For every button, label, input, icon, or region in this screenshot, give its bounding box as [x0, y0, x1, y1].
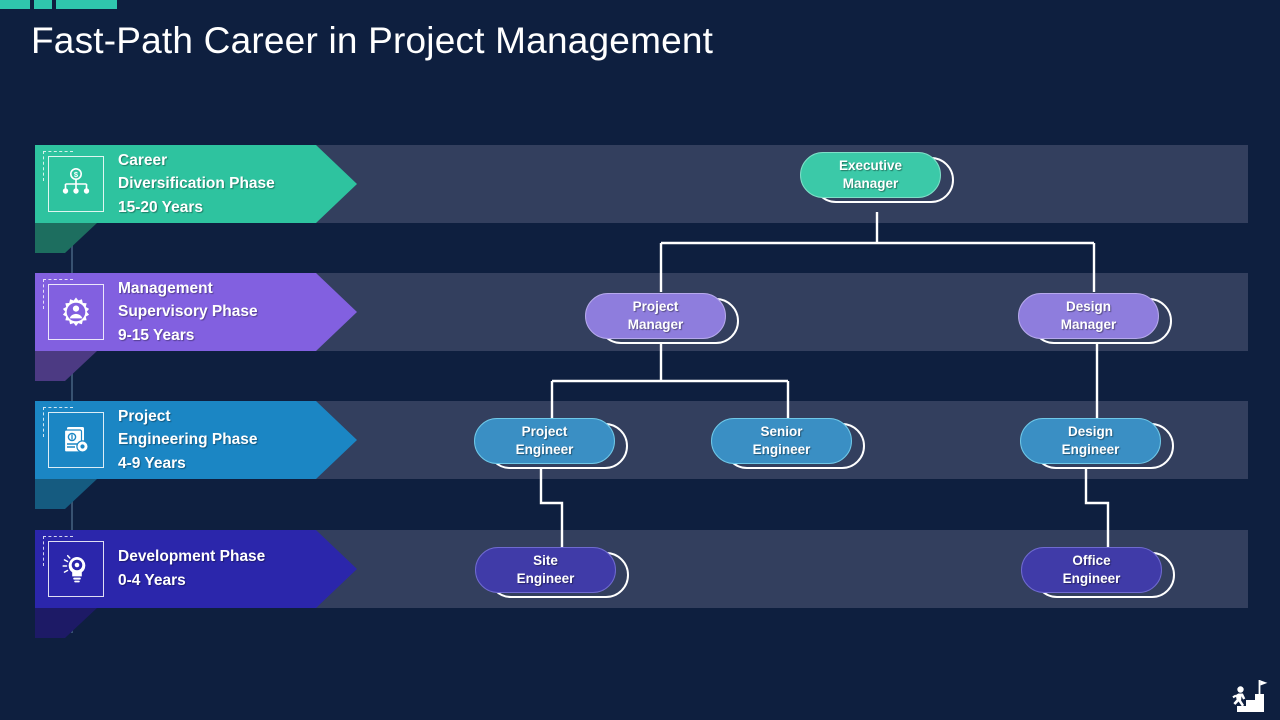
phase-card-management-supervisory[interactable]: Management Supervisory Phase 9-15 Years	[35, 273, 357, 351]
chevron-fold-shadow-2	[35, 351, 97, 381]
phase-label-line1: Career	[118, 149, 275, 173]
node-label: Project Engineer	[516, 423, 574, 459]
node-site-engineer[interactable]: Site Engineer	[475, 547, 630, 599]
node-design-manager[interactable]: Design Manager	[1018, 293, 1173, 345]
node-body: Site Engineer	[475, 547, 616, 593]
node-body: Senior Engineer	[711, 418, 852, 464]
phase-card-career-diversification[interactable]: $ Career Diversification Phase 15-20 Yea…	[35, 145, 357, 223]
node-body: Office Engineer	[1021, 547, 1162, 593]
node-body: Design Engineer	[1020, 418, 1161, 464]
phase-label-line1: Management	[118, 277, 258, 301]
head-lightbulb-gear-icon	[48, 541, 104, 597]
accent-bar-segment-1	[0, 0, 30, 9]
phase-label-line1: Project	[118, 405, 258, 429]
node-senior-engineer[interactable]: Senior Engineer	[711, 418, 866, 470]
phase-label-line3: 4-9 Years	[118, 452, 258, 476]
phase-label-group: Development Phase 0-4 Years	[118, 545, 265, 592]
phase-label-line2: Supervisory Phase	[118, 300, 258, 324]
slide-canvas: Fast-Path Career in Project Management $…	[0, 0, 1280, 720]
document-gear-icon	[48, 412, 104, 468]
org-chart-money-icon: $	[48, 156, 104, 212]
node-label: Project Manager	[628, 298, 684, 334]
node-body: Design Manager	[1018, 293, 1159, 339]
page-title: Fast-Path Career in Project Management	[31, 20, 713, 62]
node-label: Senior Engineer	[753, 423, 811, 459]
node-label: Design Manager	[1061, 298, 1117, 334]
phase-label-line2: 0-4 Years	[118, 569, 265, 593]
node-project-manager[interactable]: Project Manager	[585, 293, 740, 345]
org-chart-connectors	[0, 0, 1280, 720]
node-label: Design Engineer	[1062, 423, 1120, 459]
phase-label-line3: 15-20 Years	[118, 196, 275, 220]
phase-label-group: Management Supervisory Phase 9-15 Years	[118, 277, 258, 348]
node-body: Project Manager	[585, 293, 726, 339]
gear-person-icon	[48, 284, 104, 340]
node-label: Site Engineer	[517, 552, 575, 588]
node-executive-manager[interactable]: Executive Manager	[800, 152, 955, 204]
phase-label-line3: 9-15 Years	[118, 324, 258, 348]
chevron-fold-shadow-4	[35, 608, 97, 638]
phase-label-line2: Engineering Phase	[118, 428, 258, 452]
phase-label-line2: Diversification Phase	[118, 172, 275, 196]
node-office-engineer[interactable]: Office Engineer	[1021, 547, 1176, 599]
phase-card-development[interactable]: Development Phase 0-4 Years	[35, 530, 357, 608]
phase-label-group: Project Engineering Phase 4-9 Years	[118, 405, 258, 476]
node-label: Executive Manager	[839, 157, 902, 193]
node-label: Office Engineer	[1063, 552, 1121, 588]
node-body: Executive Manager	[800, 152, 941, 198]
phase-card-project-engineering[interactable]: Project Engineering Phase 4-9 Years	[35, 401, 357, 479]
accent-bar-segment-2	[34, 0, 52, 9]
phase-label-line1: Development Phase	[118, 545, 265, 569]
chevron-fold-shadow-1	[35, 223, 97, 253]
node-design-engineer[interactable]: Design Engineer	[1020, 418, 1175, 470]
phase-label-group: Career Diversification Phase 15-20 Years	[118, 149, 275, 220]
node-body: Project Engineer	[474, 418, 615, 464]
chevron-fold-shadow-3	[35, 479, 97, 509]
accent-bar-segment-3	[56, 0, 117, 9]
person-climbing-stairs-flag-logo	[1226, 674, 1272, 714]
node-project-engineer[interactable]: Project Engineer	[474, 418, 629, 470]
